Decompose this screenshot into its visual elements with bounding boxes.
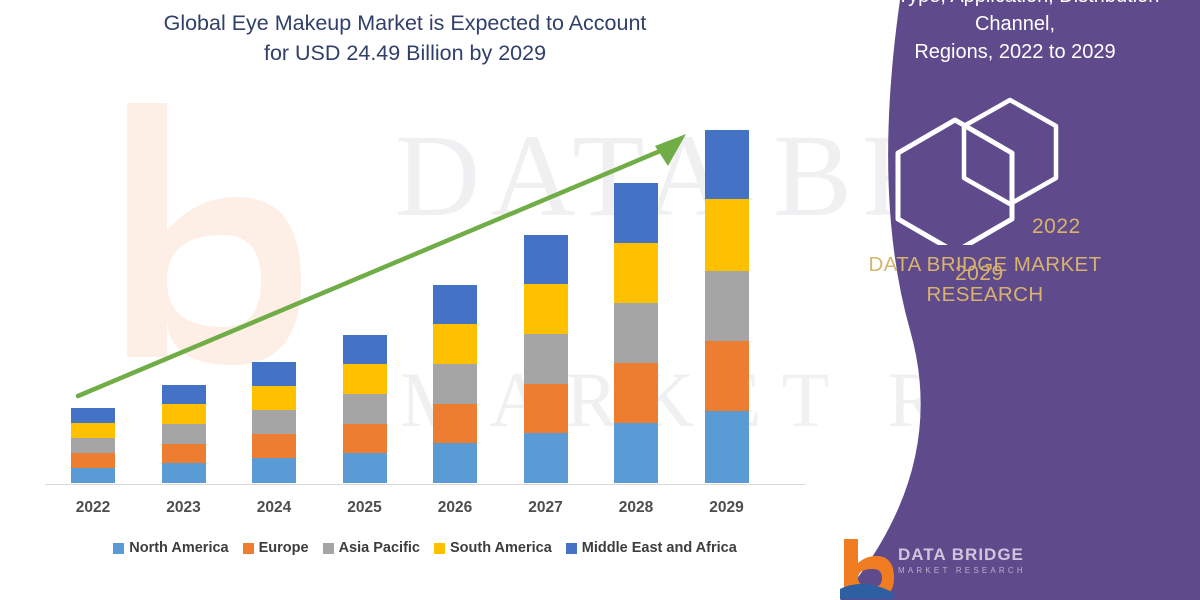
x-axis-label-2029: 2029 xyxy=(682,499,772,517)
panel-heading-line-1: by Type, Application, Distribution Chann… xyxy=(840,0,1190,38)
panel-brand-name: DATA BRIDGE MARKET RESEARCH xyxy=(820,250,1150,310)
bar-2027[interactable] xyxy=(524,235,568,483)
legend-item-europe[interactable]: Europe xyxy=(243,540,309,556)
bar-segment-2027-north-america[interactable] xyxy=(524,433,568,483)
bar-segment-2027-south-america[interactable] xyxy=(524,284,568,334)
dbmr-logo: DATA BRIDGE MARKET RESEARCH xyxy=(838,537,1138,600)
legend-item-asia-pacific[interactable]: Asia Pacific xyxy=(323,540,420,556)
axis-baseline xyxy=(45,484,805,485)
bar-2024[interactable] xyxy=(252,362,296,483)
x-axis-label-2026: 2026 xyxy=(410,499,500,517)
bar-segment-2026-middle-east-and-africa[interactable] xyxy=(433,285,477,324)
bar-segment-2028-asia-pacific[interactable] xyxy=(614,303,658,363)
hexagon-label-2022: 2022 xyxy=(1032,215,1081,239)
panel-heading-line-2: Regions, 2022 to 2029 xyxy=(840,38,1190,66)
dbmr-logo-tagline: MARKET RESEARCH xyxy=(898,566,1026,575)
bar-segment-2026-south-america[interactable] xyxy=(433,324,477,364)
title-line-1: Global Eye Makeup Market is Expected to … xyxy=(60,8,750,38)
x-axis-label-2027: 2027 xyxy=(501,499,591,517)
bar-segment-2029-europe[interactable] xyxy=(705,341,749,411)
bar-segment-2023-middle-east-and-africa[interactable] xyxy=(162,385,206,404)
bar-segment-2027-asia-pacific[interactable] xyxy=(524,334,568,384)
brand-line-1: DATA BRIDGE MARKET xyxy=(820,250,1150,280)
bar-segment-2023-europe[interactable] xyxy=(162,444,206,463)
x-axis-label-2024: 2024 xyxy=(229,499,319,517)
legend-label: South America xyxy=(450,540,552,556)
bar-segment-2025-europe[interactable] xyxy=(343,424,387,453)
bar-segment-2029-south-america[interactable] xyxy=(705,199,749,271)
legend-label: North America xyxy=(129,540,228,556)
chart-plot-area: 20222023202420252026202720282029 xyxy=(0,0,830,600)
bar-segment-2026-europe[interactable] xyxy=(433,404,477,443)
bar-segment-2024-europe[interactable] xyxy=(252,434,296,458)
legend-item-south-america[interactable]: South America xyxy=(434,540,552,556)
bar-segment-2023-north-america[interactable] xyxy=(162,463,206,483)
bar-segment-2029-middle-east-and-africa[interactable] xyxy=(705,130,749,199)
bar-2028[interactable] xyxy=(614,183,658,483)
hexagon-badges: 2029 2022 xyxy=(860,95,1160,245)
bar-segment-2026-north-america[interactable] xyxy=(433,443,477,483)
bar-segment-2024-south-america[interactable] xyxy=(252,386,296,410)
legend-swatch-icon xyxy=(323,543,334,554)
legend-swatch-icon xyxy=(243,543,254,554)
x-axis-label-2028: 2028 xyxy=(591,499,681,517)
legend-label: Europe xyxy=(259,540,309,556)
hexagon-large-outline xyxy=(898,120,1012,245)
bar-segment-2028-europe[interactable] xyxy=(614,363,658,423)
brand-line-2: RESEARCH xyxy=(820,280,1150,310)
bar-segment-2029-asia-pacific[interactable] xyxy=(705,271,749,341)
bar-segment-2023-south-america[interactable] xyxy=(162,404,206,424)
bar-segment-2024-middle-east-and-africa[interactable] xyxy=(252,362,296,386)
bar-2022[interactable] xyxy=(71,408,115,483)
x-axis-label-2023: 2023 xyxy=(139,499,229,517)
bar-segment-2022-south-america[interactable] xyxy=(71,423,115,438)
chart-legend: North AmericaEuropeAsia PacificSouth Ame… xyxy=(45,540,805,556)
x-axis-label-2025: 2025 xyxy=(320,499,410,517)
bar-segment-2028-north-america[interactable] xyxy=(614,423,658,483)
dbmr-logo-mark-icon xyxy=(838,537,896,599)
bar-segment-2022-asia-pacific[interactable] xyxy=(71,438,115,453)
bar-segment-2023-asia-pacific[interactable] xyxy=(162,424,206,444)
legend-swatch-icon xyxy=(566,543,577,554)
bar-2026[interactable] xyxy=(433,285,477,483)
bar-segment-2024-north-america[interactable] xyxy=(252,458,296,483)
legend-swatch-icon xyxy=(113,543,124,554)
bar-segment-2025-middle-east-and-africa[interactable] xyxy=(343,335,387,364)
title-line-2: for USD 24.49 Billion by 2029 xyxy=(60,38,750,68)
legend-label: Asia Pacific xyxy=(339,540,420,556)
bar-segment-2024-asia-pacific[interactable] xyxy=(252,410,296,434)
bar-2029[interactable] xyxy=(705,130,749,483)
bar-2023[interactable] xyxy=(162,385,206,483)
infographic-canvas: DATA BRIDGE MARKET RESEARCH Global Eye M… xyxy=(0,0,1200,600)
bar-segment-2026-asia-pacific[interactable] xyxy=(433,364,477,404)
bar-segment-2028-middle-east-and-africa[interactable] xyxy=(614,183,658,243)
legend-item-north-america[interactable]: North America xyxy=(113,540,228,556)
bar-2025[interactable] xyxy=(343,335,387,483)
dbmr-logo-name: DATA BRIDGE xyxy=(898,545,1024,565)
bar-segment-2025-north-america[interactable] xyxy=(343,453,387,483)
page-title: Global Eye Makeup Market is Expected to … xyxy=(60,8,750,68)
bar-segment-2027-europe[interactable] xyxy=(524,384,568,433)
bar-segment-2025-asia-pacific[interactable] xyxy=(343,394,387,424)
bar-segment-2027-middle-east-and-africa[interactable] xyxy=(524,235,568,284)
legend-item-middle-east-and-africa[interactable]: Middle East and Africa xyxy=(566,540,737,556)
bar-segment-2025-south-america[interactable] xyxy=(343,364,387,394)
bar-segment-2022-north-america[interactable] xyxy=(71,468,115,483)
hexagon-outlines-icon xyxy=(860,95,1160,245)
panel-heading: by Type, Application, Distribution Chann… xyxy=(840,0,1190,66)
bar-segment-2029-north-america[interactable] xyxy=(705,411,749,483)
legend-swatch-icon xyxy=(434,543,445,554)
bar-segment-2028-south-america[interactable] xyxy=(614,243,658,303)
legend-label: Middle East and Africa xyxy=(582,540,737,556)
x-axis-label-2022: 2022 xyxy=(48,499,138,517)
bar-segment-2022-europe[interactable] xyxy=(71,453,115,468)
bar-segment-2022-middle-east-and-africa[interactable] xyxy=(71,408,115,423)
